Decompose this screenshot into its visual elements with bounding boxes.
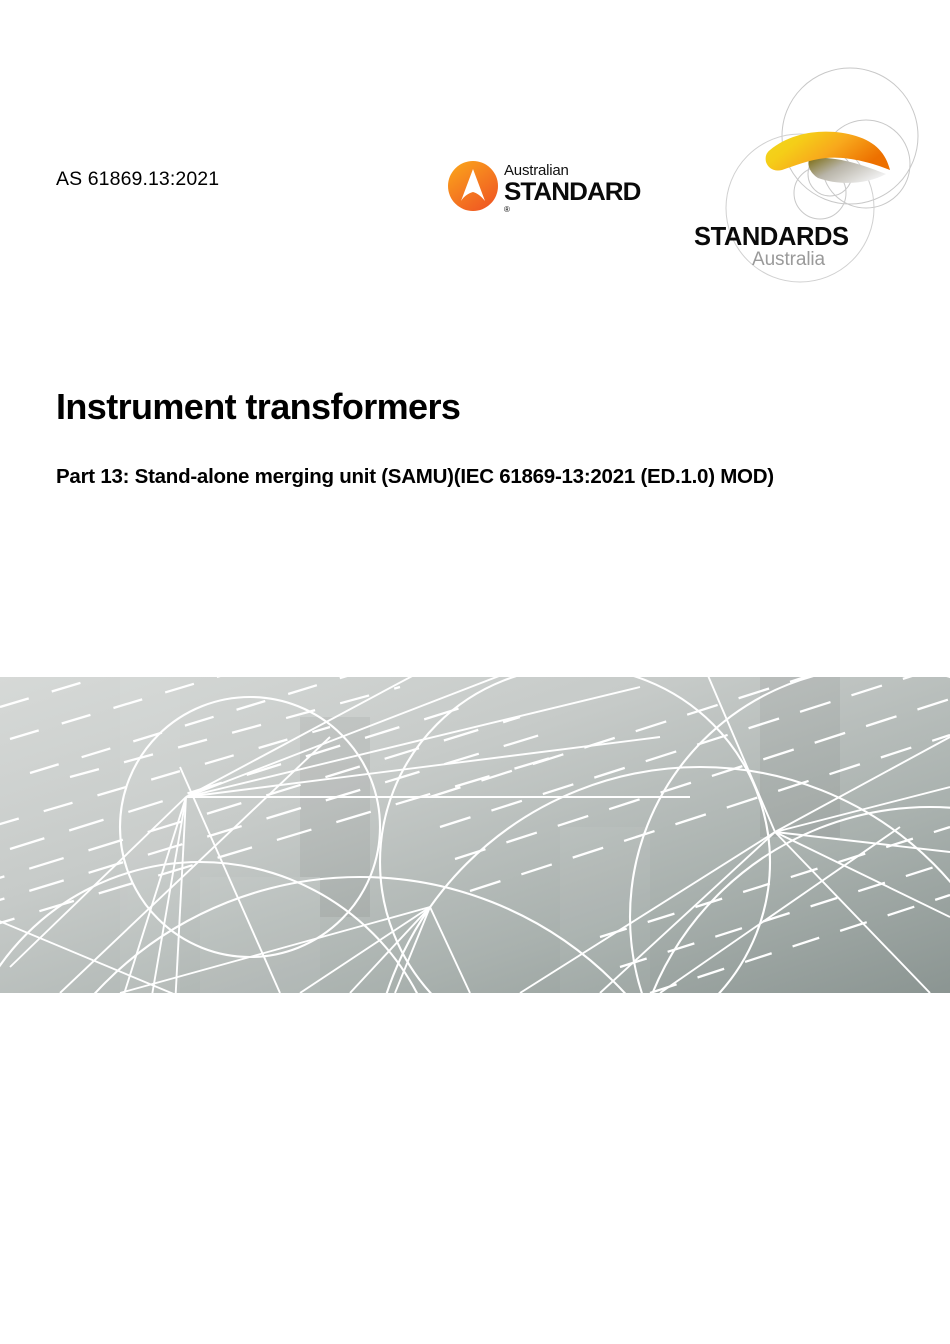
australian-standard-mark-icon [447, 160, 499, 212]
standard-number: AS 61869.13:2021 [56, 168, 219, 191]
standards-australia-line2: Australia [752, 249, 904, 270]
australian-standard-line2: STANDARD [504, 179, 640, 205]
page-header: AS 61869.13:2021 Australian STANDARD® [0, 0, 950, 300]
australian-standard-wordmark: Australian STANDARD® [504, 162, 634, 212]
australian-standard-line1: Australian [504, 162, 634, 179]
standards-australia-logo: STANDARDS Australia [690, 58, 948, 290]
decorative-banner [0, 677, 950, 993]
page-title: Instrument transformers [56, 385, 856, 429]
standards-australia-line1: STANDARDS [694, 224, 904, 250]
document-title-block: Instrument transformers Part 13: Stand-a… [56, 385, 856, 491]
page-subtitle: Part 13: Stand-alone merging unit (SAMU)… [56, 462, 776, 491]
australian-standard-logo: Australian STANDARD® [447, 160, 632, 216]
registered-trademark-icon: ® [504, 205, 510, 214]
standards-australia-wordmark: STANDARDS Australia [694, 224, 904, 270]
banner-artwork [0, 677, 950, 993]
